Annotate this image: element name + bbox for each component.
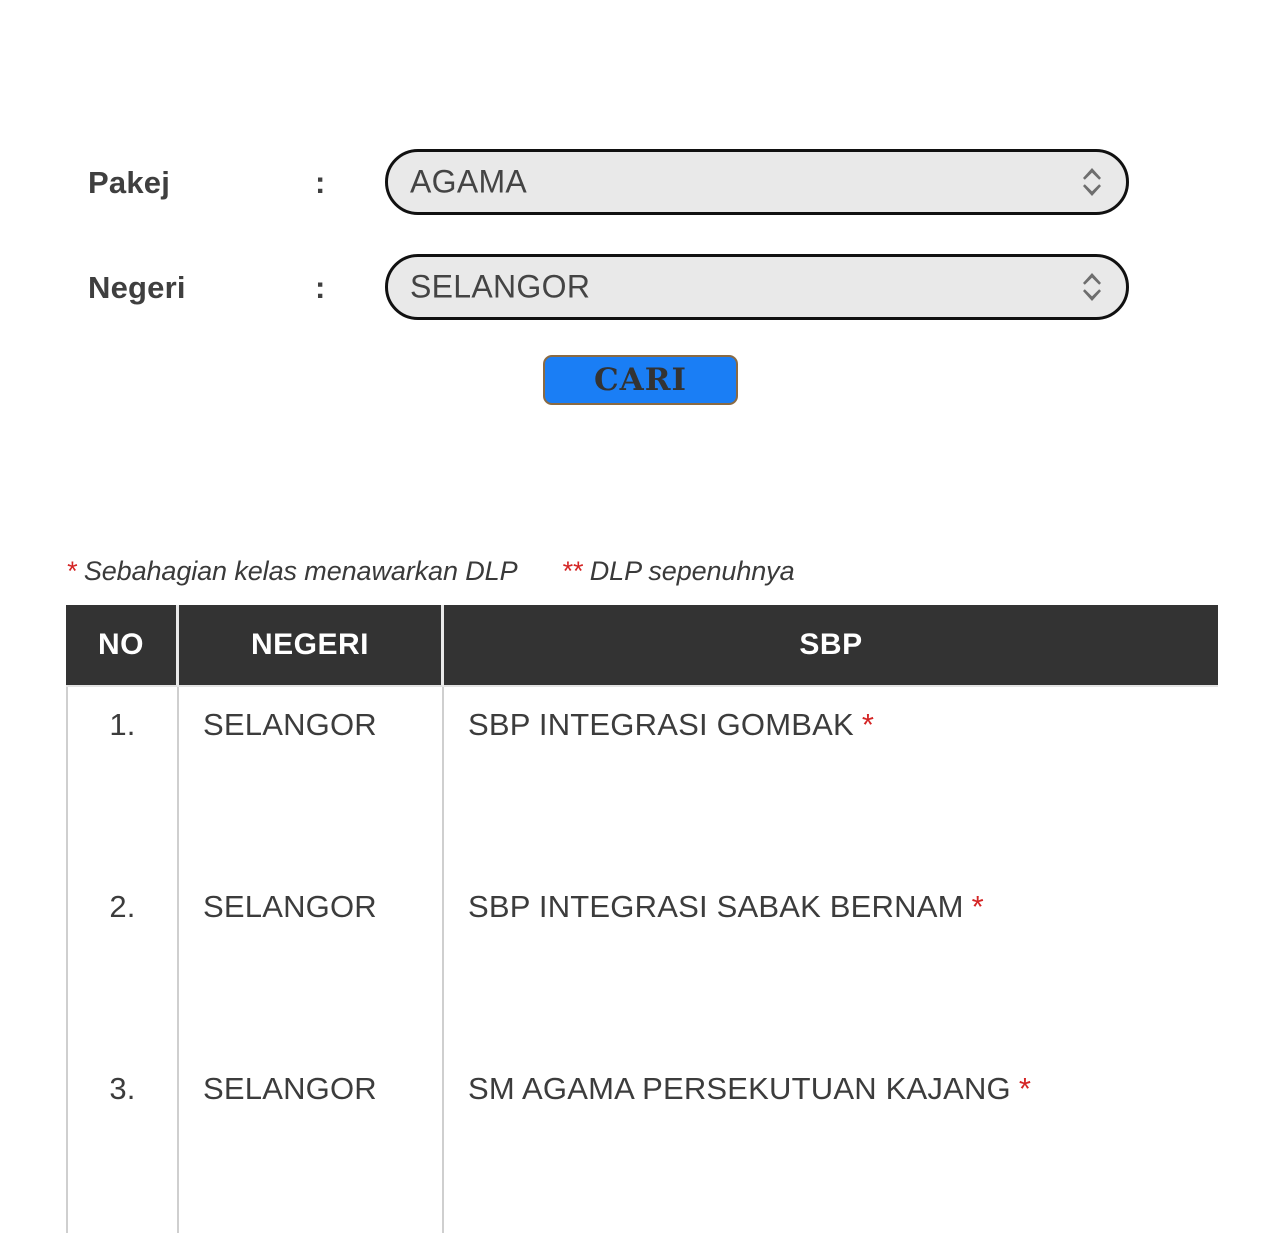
negeri-select-value: SELANGOR	[410, 269, 590, 306]
double-asterisk-marker: **	[562, 556, 583, 586]
pakej-colon: :	[315, 165, 325, 201]
negeri-colon: :	[315, 270, 325, 306]
dlp-legend-note: * Sebahagian kelas menawarkan DLP** DLP …	[66, 556, 795, 587]
table-header-row: NO NEGERI SBP	[66, 605, 1218, 687]
pakej-label: Pakej	[88, 165, 170, 201]
cell-sbp: SM AGAMA PERSEKUTUAN KAJANG*	[444, 1051, 1218, 1233]
dlp-marker: *	[1011, 1071, 1031, 1106]
column-header-sbp: SBP	[444, 605, 1218, 687]
cell-negeri: SELANGOR	[179, 687, 444, 869]
column-header-no: NO	[66, 605, 179, 687]
form-row-negeri: Negeri : SELANGOR	[0, 254, 1280, 322]
column-header-negeri: NEGERI	[179, 605, 444, 687]
chevron-up-down-icon	[1080, 165, 1104, 199]
cell-negeri: SELANGOR	[179, 1051, 444, 1233]
cell-sbp: SBP INTEGRASI SABAK BERNAM*	[444, 869, 1218, 1051]
dlp-marker: *	[964, 889, 984, 924]
dlp-marker: *	[854, 707, 874, 742]
cell-no: 2.	[66, 869, 179, 1051]
cell-no: 1.	[66, 687, 179, 869]
cell-sbp-name: SBP INTEGRASI GOMBAK	[468, 707, 854, 742]
pakej-select[interactable]: AGAMA	[385, 149, 1129, 215]
table-row: 1. SELANGOR SBP INTEGRASI GOMBAK*	[66, 687, 1218, 869]
cari-button-label: CARI	[594, 362, 687, 398]
sbp-results-table: NO NEGERI SBP 1. SELANGOR SBP INTEGRASI …	[66, 605, 1218, 1233]
cari-search-button[interactable]: CARI	[543, 355, 738, 405]
cell-sbp-name: SM AGAMA PERSEKUTUAN KAJANG	[468, 1071, 1011, 1106]
double-asterisk-text: DLP sepenuhnya	[590, 556, 795, 586]
chevron-up-down-icon	[1080, 270, 1104, 304]
cell-negeri: SELANGOR	[179, 869, 444, 1051]
pakej-select-value: AGAMA	[410, 164, 527, 201]
cell-no: 3.	[66, 1051, 179, 1233]
cell-sbp-name: SBP INTEGRASI SABAK BERNAM	[468, 889, 964, 924]
single-asterisk-text: Sebahagian kelas menawarkan DLP	[84, 556, 518, 586]
cell-sbp: SBP INTEGRASI GOMBAK*	[444, 687, 1218, 869]
form-row-pakej: Pakej : AGAMA	[0, 149, 1280, 217]
table-row: 2. SELANGOR SBP INTEGRASI SABAK BERNAM*	[66, 869, 1218, 1051]
single-asterisk-marker: *	[66, 556, 76, 586]
negeri-label: Negeri	[88, 270, 186, 306]
table-row: 3. SELANGOR SM AGAMA PERSEKUTUAN KAJANG*	[66, 1051, 1218, 1233]
negeri-select[interactable]: SELANGOR	[385, 254, 1129, 320]
